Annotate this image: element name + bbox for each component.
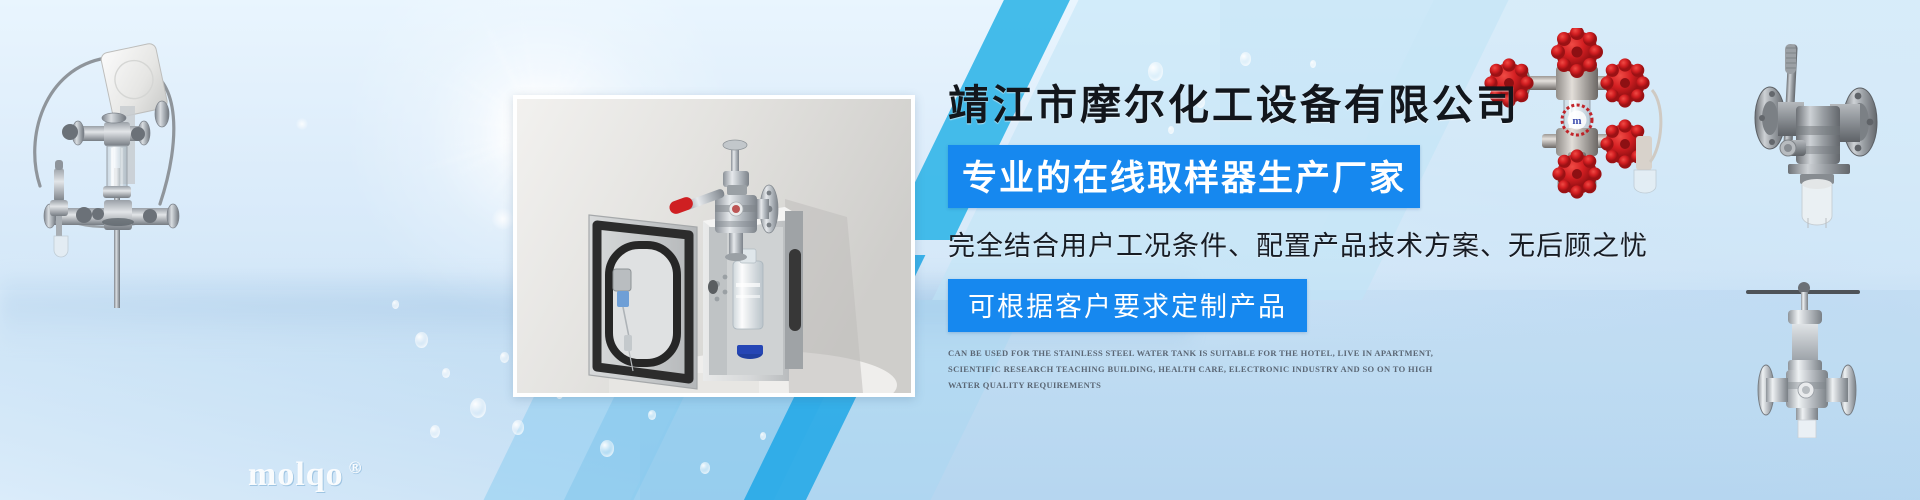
promo-banner: m	[0, 0, 1920, 500]
subline-text: 完全结合用户工况条件、配置产品技术方案、无后顾之忧	[948, 224, 1748, 263]
product-lever-flange-valve	[1726, 26, 1920, 232]
english-description: CAN BE USED FOR THE STAINLESS STEEL WATE…	[948, 346, 1448, 393]
water-droplet	[415, 332, 428, 348]
lens-flare-dot	[296, 118, 308, 130]
water-droplet	[430, 425, 440, 438]
water-droplet	[1148, 62, 1163, 81]
water-droplet	[512, 420, 524, 435]
water-droplet	[470, 398, 486, 418]
water-droplet	[760, 432, 766, 440]
water-droplet	[442, 368, 450, 378]
water-droplet	[500, 352, 509, 363]
water-droplet	[600, 440, 614, 457]
copy-block: 靖江市摩尔化工设备有限公司 专业的在线取样器生产厂家 完全结合用户工况条件、配置…	[948, 82, 1748, 393]
water-droplet	[1240, 52, 1251, 66]
water-droplet	[1310, 60, 1316, 68]
water-droplet	[648, 410, 656, 420]
watermark-logo: molqo®	[248, 456, 362, 494]
tagline-badge: 专业的在线取样器生产厂家	[948, 145, 1420, 208]
product-photo-sampling-cabinet	[513, 95, 915, 397]
company-name: 靖江市摩尔化工设备有限公司	[948, 82, 1748, 129]
product-needle-flange-valve	[1744, 272, 1920, 438]
lens-flare-dot	[492, 208, 514, 230]
product-online-sampler-on-stand	[10, 18, 200, 308]
water-droplet	[392, 300, 399, 309]
watermark-text: molqo	[248, 456, 344, 493]
water-droplet	[700, 462, 710, 474]
registered-trademark-icon: ®	[349, 458, 363, 477]
custom-order-badge: 可根据客户要求定制产品	[948, 279, 1307, 332]
